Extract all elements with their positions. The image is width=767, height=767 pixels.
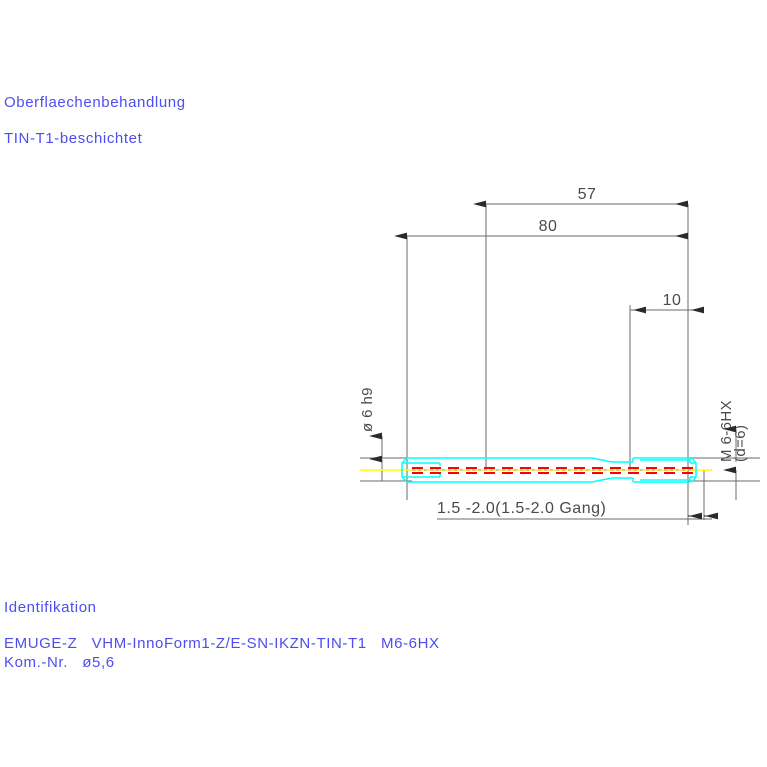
dimension-shank-diameter: ø 6 h9 <box>359 387 382 481</box>
dimension-10: 10 <box>630 292 704 310</box>
cad-drawing-sheet: Oberflaechenbehandlung TIN-T1-beschichte… <box>0 0 767 767</box>
dimension-shank-diameter-label: ø 6 h9 <box>359 387 376 432</box>
pitch-note-label: 1.5 -2.0(1.5-2.0 Gang) <box>437 500 606 517</box>
pitch-note: 1.5 -2.0(1.5-2.0 Gang) <box>437 500 718 519</box>
dimension-80: 80 <box>407 218 688 236</box>
thread-spec-callout: M 6-6HX (d=6) <box>688 400 760 500</box>
extension-lines <box>407 204 704 525</box>
dimension-57: 57 <box>486 186 688 204</box>
drawing-vector-layer: 57 80 10 ø 6 h9 M 6-6HX (d=6) <box>0 0 767 767</box>
dimension-80-label: 80 <box>539 218 558 235</box>
dimension-57-label: 57 <box>578 186 597 203</box>
dimension-10-label: 10 <box>663 292 682 309</box>
thread-spec-sub-label: (d=6) <box>732 425 749 462</box>
